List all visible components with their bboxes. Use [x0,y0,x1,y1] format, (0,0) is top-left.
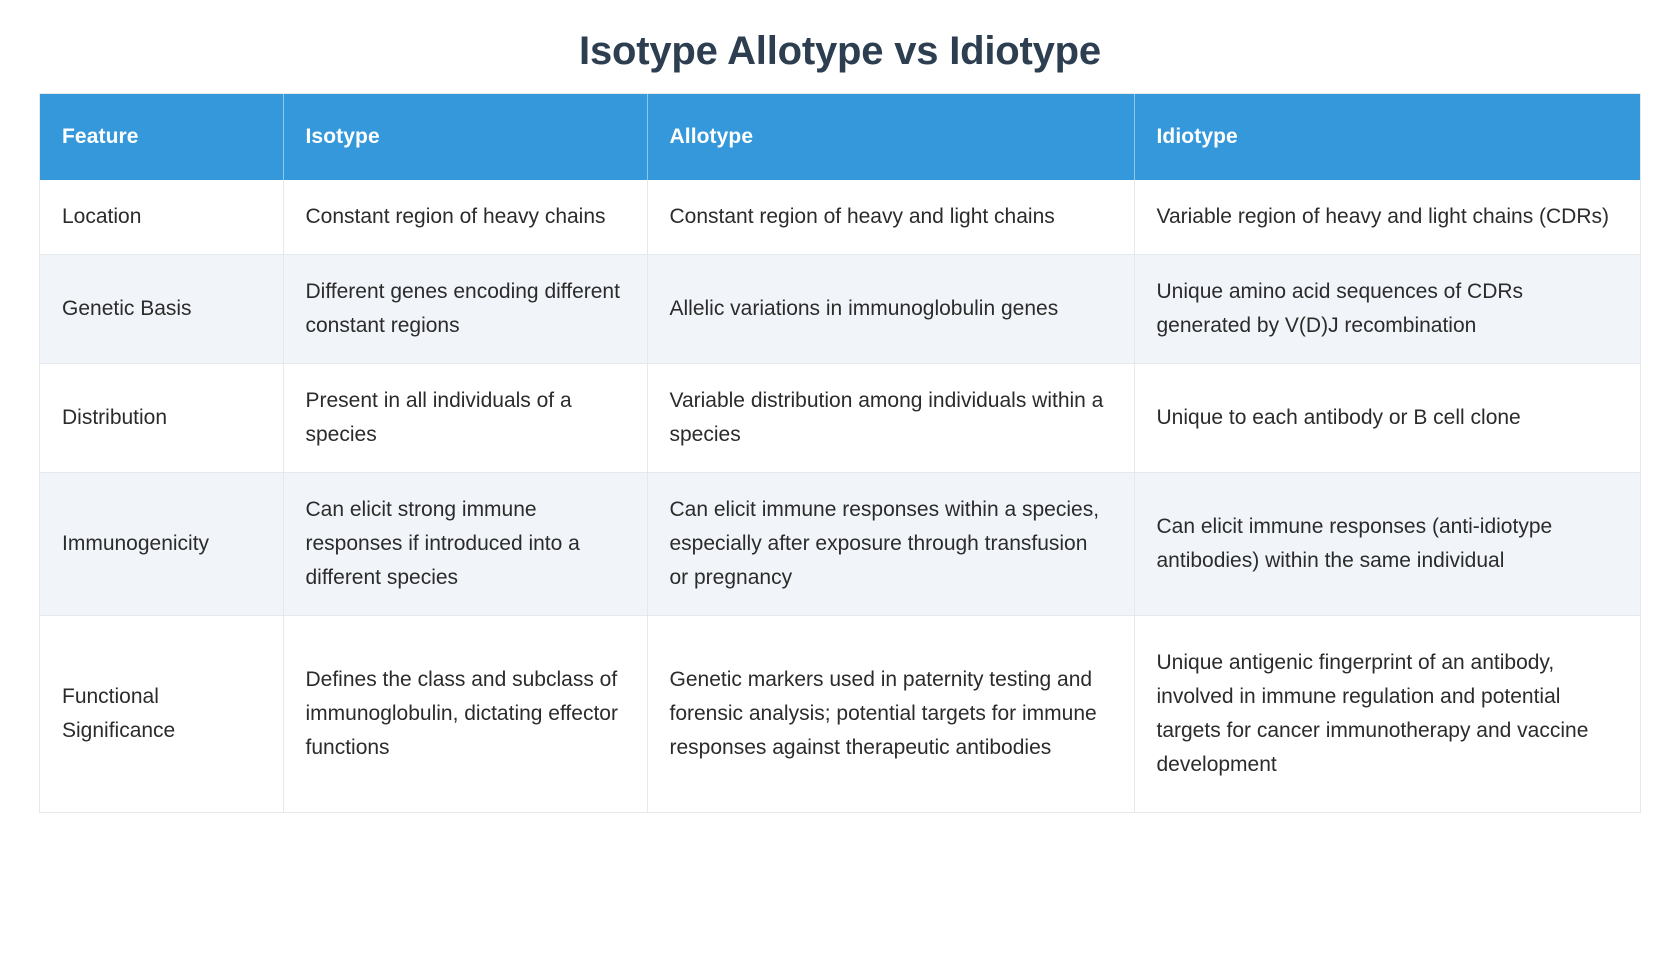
cell-allotype: Allelic variations in immunoglobulin gen… [647,255,1134,364]
page-root: Isotype Allotype vs Idiotype Feature Iso… [0,0,1680,954]
page-title: Isotype Allotype vs Idiotype [0,0,1680,76]
table-header-row: Feature Isotype Allotype Idiotype [40,94,1640,180]
table-row: Genetic Basis Different genes encoding d… [40,255,1640,364]
column-header-allotype: Allotype [647,94,1134,180]
column-header-idiotype: Idiotype [1134,94,1640,180]
cell-allotype: Can elicit immune responses within a spe… [647,473,1134,616]
cell-feature: Immunogenicity [40,473,283,616]
table-row: Location Constant region of heavy chains… [40,180,1640,255]
cell-allotype: Constant region of heavy and light chain… [647,180,1134,255]
cell-allotype: Genetic markers used in paternity testin… [647,616,1134,813]
table-body: Location Constant region of heavy chains… [40,180,1640,812]
cell-idiotype: Variable region of heavy and light chain… [1134,180,1640,255]
cell-isotype: Different genes encoding different const… [283,255,647,364]
cell-isotype: Defines the class and subclass of immuno… [283,616,647,813]
cell-idiotype: Unique to each antibody or B cell clone [1134,364,1640,473]
comparison-table: Feature Isotype Allotype Idiotype Locati… [40,94,1640,812]
cell-allotype: Variable distribution among individuals … [647,364,1134,473]
cell-feature: Genetic Basis [40,255,283,364]
column-header-isotype: Isotype [283,94,647,180]
comparison-table-container: Feature Isotype Allotype Idiotype Locati… [0,94,1680,812]
column-header-feature: Feature [40,94,283,180]
cell-idiotype: Unique antigenic fingerprint of an antib… [1134,616,1640,813]
cell-isotype: Constant region of heavy chains [283,180,647,255]
cell-feature: Functional Significance [40,616,283,813]
cell-feature: Distribution [40,364,283,473]
cell-isotype: Can elicit strong immune responses if in… [283,473,647,616]
cell-idiotype: Unique amino acid sequences of CDRs gene… [1134,255,1640,364]
table-row: Immunogenicity Can elicit strong immune … [40,473,1640,616]
table-row: Distribution Present in all individuals … [40,364,1640,473]
cell-isotype: Present in all individuals of a species [283,364,647,473]
cell-idiotype: Can elicit immune responses (anti-idioty… [1134,473,1640,616]
cell-feature: Location [40,180,283,255]
table-row: Functional Significance Defines the clas… [40,616,1640,813]
table-header: Feature Isotype Allotype Idiotype [40,94,1640,180]
